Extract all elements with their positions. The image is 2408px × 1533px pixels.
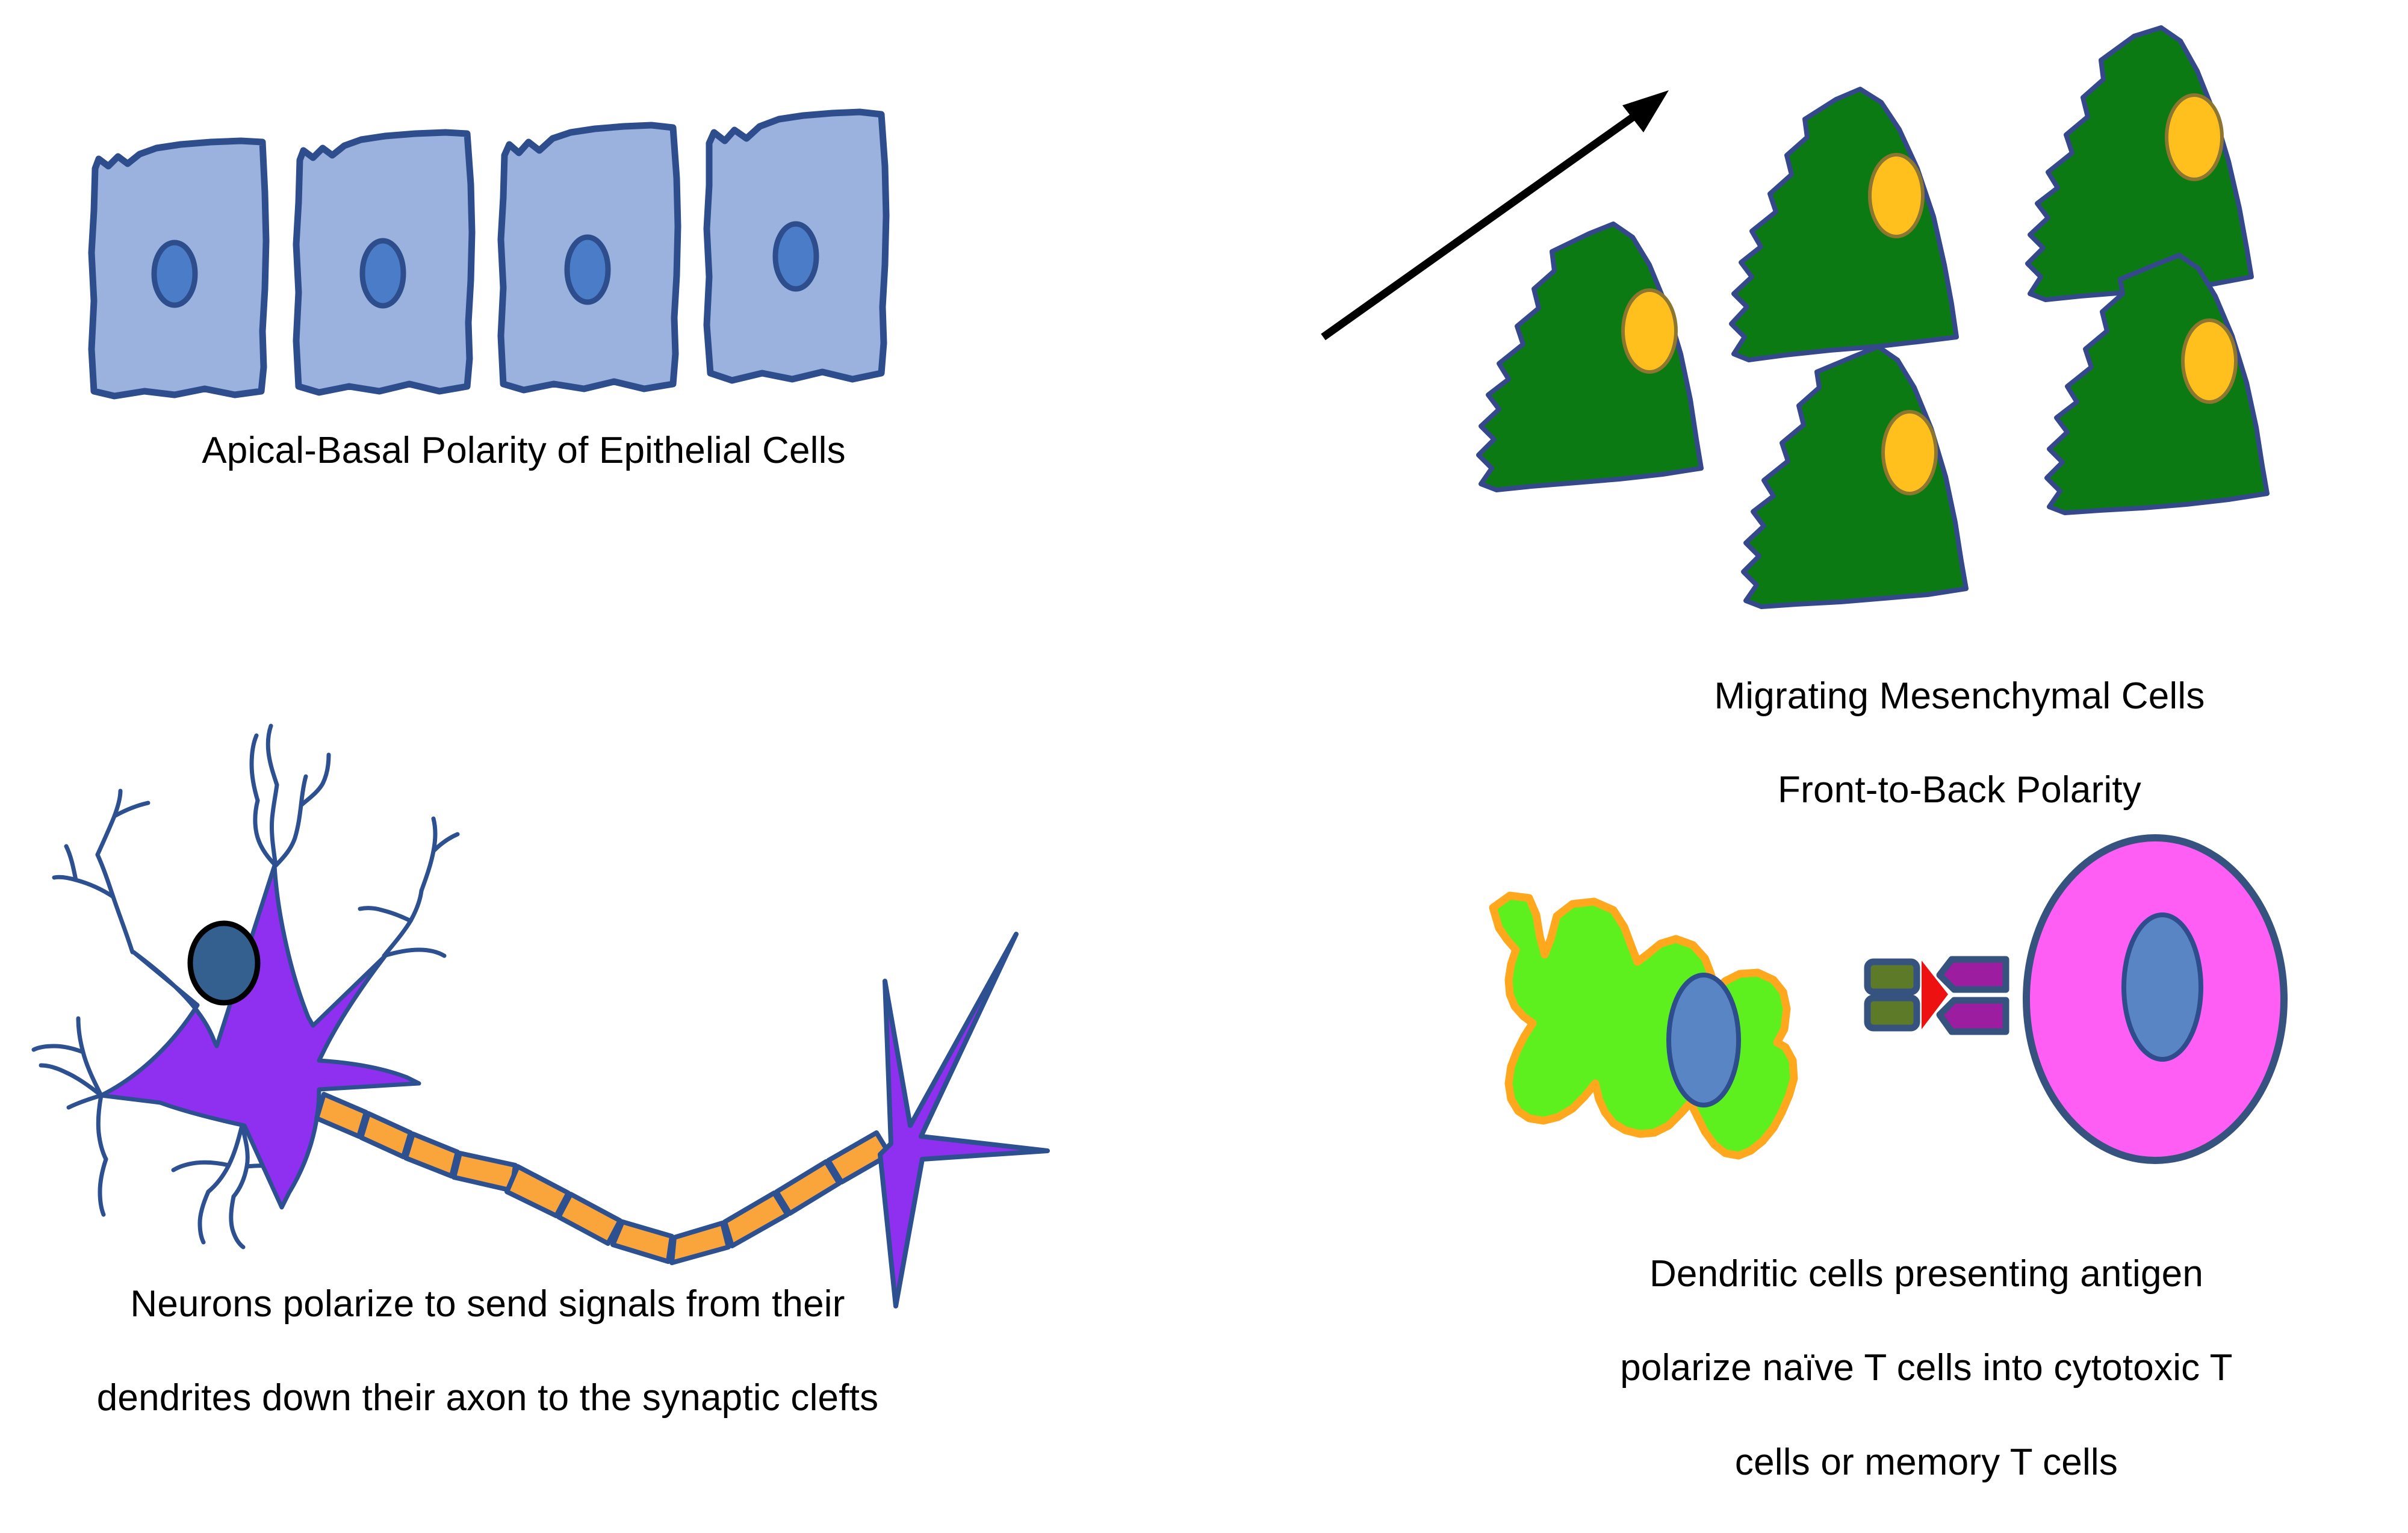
caption-line: Neurons polarize to send signals from th… <box>36 1281 939 1328</box>
nucleus <box>1623 290 1676 372</box>
caption-dendritic-cell: Dendritic cells presenting antigen polar… <box>1565 1204 2288 1533</box>
epithelial-cell <box>501 125 678 390</box>
caption-neuron: Neurons polarize to send signals from th… <box>36 1234 939 1469</box>
nucleus <box>567 237 608 302</box>
dendritic-cell <box>1493 896 1794 1156</box>
epithelial-cell <box>707 112 886 380</box>
caption-line: Front-to-Back Polarity <box>1613 767 2306 814</box>
epithelial-cell <box>296 132 472 392</box>
nucleus <box>1669 975 1739 1105</box>
nucleus <box>1870 155 1923 237</box>
caption-line: Dendritic cells presenting antigen <box>1565 1251 2288 1298</box>
epithelial-cell <box>92 141 266 396</box>
nucleus <box>1883 412 1936 494</box>
nucleus <box>775 224 816 289</box>
caption-line: polarize naïve T cells into cytotoxic T <box>1565 1345 2288 1392</box>
nucleus <box>2167 95 2222 179</box>
neuron-soma <box>101 866 419 1207</box>
nucleus <box>190 923 258 1003</box>
t-cell <box>2026 838 2284 1160</box>
neuron-graphic <box>36 704 1047 1210</box>
epithelial-cells-graphic <box>90 132 993 409</box>
nucleus <box>362 241 403 306</box>
mhc-molecule <box>1867 962 1917 1028</box>
mesenchymal-cell <box>1731 89 1956 360</box>
mesenchymal-cells-graphic <box>1294 24 2408 602</box>
panel-epithelial-cells <box>90 132 993 409</box>
caption-line: dendrites down their axon to the synapti… <box>36 1375 939 1422</box>
panel-dendritic-cell-t-cell <box>1433 831 2336 1192</box>
caption-mesenchymal-cells: Migrating Mesenchymal Cells Front-to-Bac… <box>1613 626 2306 861</box>
panel-mesenchymal-cells <box>1294 24 2408 602</box>
caption-line: Migrating Mesenchymal Cells <box>1613 673 2306 720</box>
mesenchymal-cell <box>1479 224 1701 490</box>
caption-epithelial-cells: Apical-Basal Polarity of Epithelial Cell… <box>72 427 975 474</box>
t-cell-receptor <box>1940 959 2006 1032</box>
cell-polarity-figure: Apical-Basal Polarity of Epithelial Cell… <box>0 0 2408 1354</box>
nucleus <box>2183 320 2236 402</box>
caption-line: cells or memory T cells <box>1565 1439 2288 1486</box>
mesenchymal-cell <box>1743 347 1966 607</box>
panel-neuron <box>36 704 1047 1210</box>
mesenchymal-cell <box>2028 28 2251 300</box>
nucleus <box>2124 915 2201 1059</box>
nucleus <box>154 243 195 305</box>
dendritic-cell-graphic <box>1433 831 2336 1192</box>
